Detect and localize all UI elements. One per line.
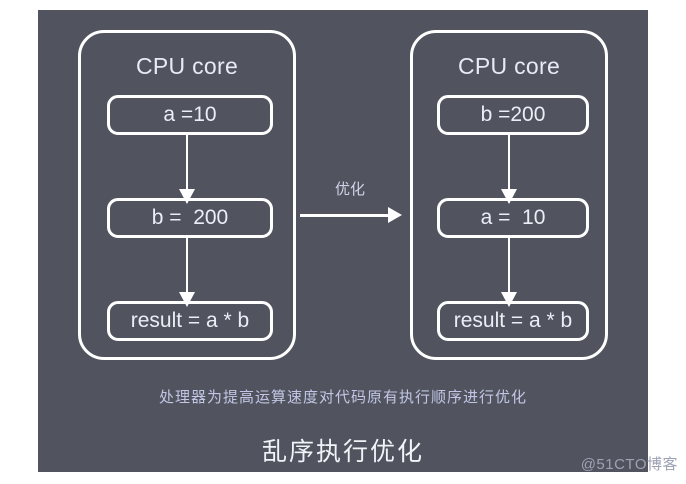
instruction-box-left-2: result = a * b: [107, 301, 273, 341]
diagram-canvas: CPU core a =10 b = 200 result = a * b 优化…: [38, 10, 648, 472]
down-arrow-icon: [508, 238, 510, 304]
optimization-transform: 优化: [300, 170, 410, 240]
optimization-label: 优化: [300, 178, 400, 199]
cpu-core-right-title: CPU core: [413, 53, 605, 80]
cpu-core-left: CPU core a =10 b = 200 result = a * b: [78, 30, 296, 360]
diagram-title: 乱序执行优化: [38, 432, 648, 468]
instruction-box-right-1: a = 10: [437, 198, 589, 238]
watermark: @51CTO博客: [581, 453, 678, 474]
instruction-box-right-2: result = a * b: [437, 301, 589, 341]
down-arrow-icon: [186, 238, 188, 304]
down-arrow-icon: [508, 135, 510, 201]
cpu-core-left-title: CPU core: [81, 53, 293, 80]
right-arrow-head-icon: [388, 207, 402, 223]
instruction-box-right-0: b =200: [437, 95, 589, 135]
down-arrow-icon: [186, 135, 188, 201]
right-arrow-icon: [300, 214, 392, 217]
instruction-box-left-1: b = 200: [107, 198, 273, 238]
cpu-core-right: CPU core b =200 a = 10 result = a * b: [410, 30, 608, 360]
diagram-caption: 处理器为提高运算速度对代码原有执行顺序进行优化: [38, 386, 648, 407]
instruction-box-left-0: a =10: [107, 95, 273, 135]
